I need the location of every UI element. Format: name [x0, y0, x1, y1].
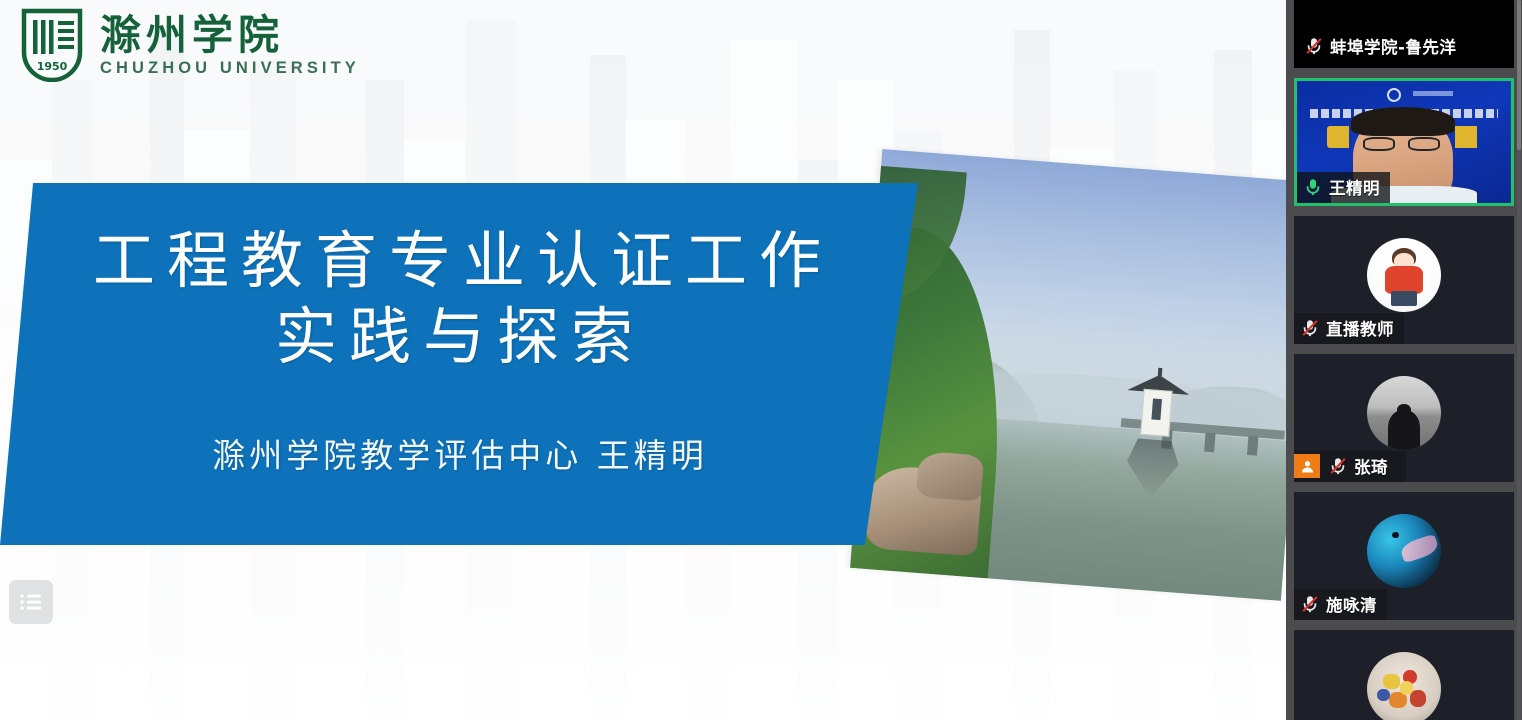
crest-icon: 1950: [18, 8, 86, 82]
mic-on-icon: [1303, 177, 1323, 197]
avatar: [1367, 652, 1441, 720]
crest-year: 1950: [37, 60, 68, 73]
participant-namebar: 张琦: [1294, 451, 1406, 482]
participant-name: 蚌埠学院-鲁先洋: [1330, 34, 1456, 58]
participant-tile[interactable]: [1294, 630, 1514, 720]
participant-tile[interactable]: 施咏清: [1294, 492, 1514, 620]
participant-tile[interactable]: 蚌埠学院-鲁先洋: [1294, 0, 1514, 68]
slide-subtitle: 滁州学院教学评估中心 王精明: [40, 429, 878, 477]
pavilion-shape: [1133, 367, 1181, 437]
person-badge-icon: [1294, 454, 1320, 478]
participant-sidebar[interactable]: 蚌埠学院-鲁先洋: [1286, 0, 1522, 720]
mic-muted-icon: [1300, 594, 1320, 614]
logo-name-en: CHUZHOU UNIVERSITY: [100, 60, 360, 77]
slide-title-line-1: 工程教育专业认证工作: [40, 225, 878, 297]
sidebar-scrollbar[interactable]: [1517, 0, 1521, 720]
participant-namebar: 王精明: [1297, 172, 1390, 203]
participant-name: 王精明: [1329, 175, 1380, 199]
university-logo: 1950 滁州学院 CHUZHOU UNIVERSITY: [18, 8, 360, 82]
shared-slide: 1950 滁州学院 CHUZHOU UNIVERSITY: [0, 0, 1286, 720]
slide-title-line-2: 实践与探索: [40, 301, 878, 373]
avatar: [1367, 238, 1441, 312]
participant-name: 张琦: [1354, 454, 1388, 478]
avatar: [1367, 514, 1441, 588]
mic-muted-icon: [1328, 456, 1348, 476]
participant-tile[interactable]: 直播教师: [1294, 216, 1514, 344]
avatar: [1367, 376, 1441, 450]
list-icon[interactable]: [9, 580, 53, 624]
participant-namebar: 直播教师: [1294, 313, 1404, 344]
participant-tile-active-speaker[interactable]: 王精明: [1294, 78, 1514, 206]
meeting-logo-icon: [1387, 88, 1401, 102]
logo-name-cn: 滁州学院: [100, 13, 360, 59]
mic-muted-icon: [1300, 318, 1320, 338]
participant-name: 施咏清: [1326, 592, 1377, 616]
slide-title-banner: 工程教育专业认证工作 实践与探索 滁州学院教学评估中心 王精明: [0, 183, 918, 545]
mic-muted-icon: [1304, 36, 1324, 56]
participant-namebar: 施咏清: [1294, 589, 1387, 620]
slide-photo: [850, 149, 1286, 601]
participant-tile[interactable]: 张琦: [1294, 354, 1514, 482]
meeting-screen-share-view: 1950 滁州学院 CHUZHOU UNIVERSITY: [0, 0, 1522, 720]
participant-namebar: 蚌埠学院-鲁先洋: [1294, 31, 1466, 62]
participant-name: 直播教师: [1326, 316, 1394, 340]
